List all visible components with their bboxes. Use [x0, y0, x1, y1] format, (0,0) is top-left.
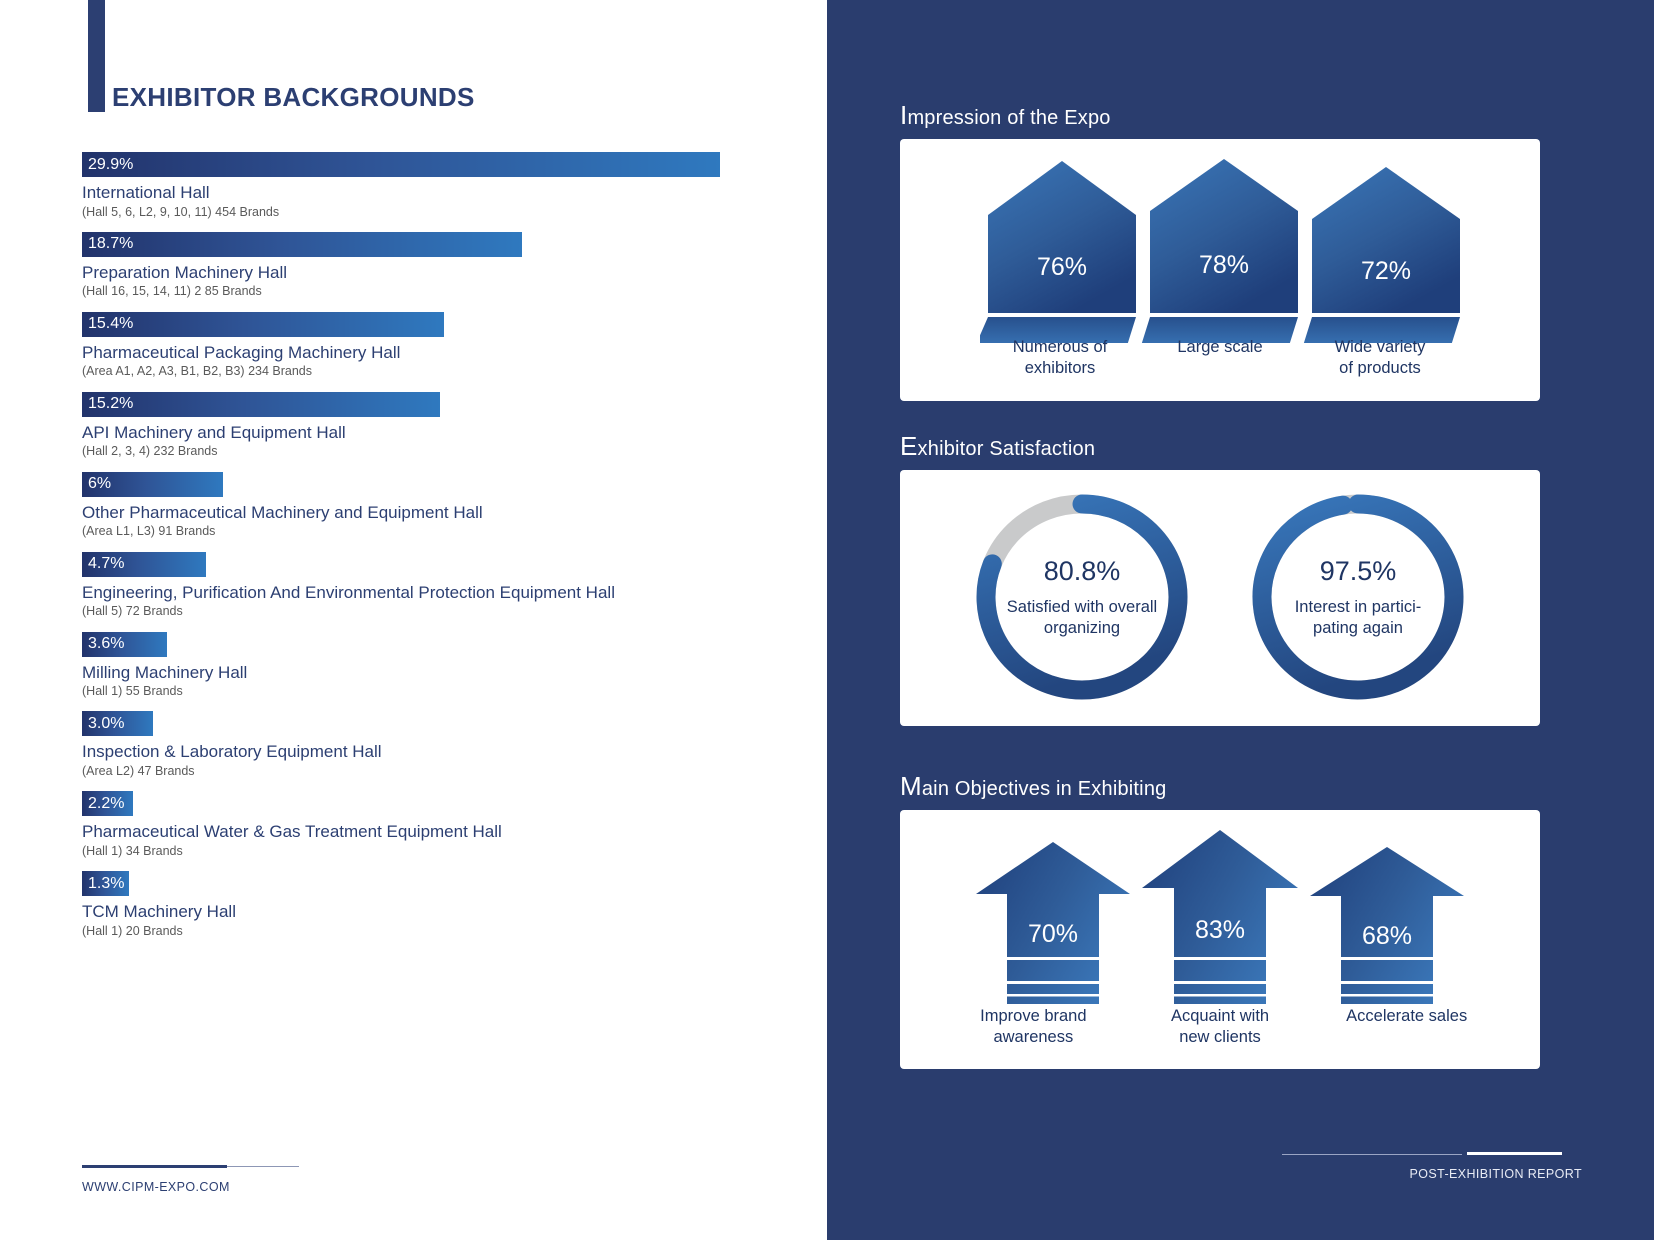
bar-fill: 18.7%: [82, 232, 522, 257]
left-panel: EXHIBITOR BACKGROUNDS 29.9%International…: [0, 0, 827, 1240]
bar-percent-label: 4.7%: [82, 556, 124, 572]
page-title: EXHIBITOR BACKGROUNDS: [112, 82, 475, 113]
bar-fill: 29.9%: [82, 152, 720, 177]
bar-category-name: Milling Machinery Hall: [82, 663, 782, 683]
bar-category-name: Other Pharmaceutical Machinery and Equip…: [82, 503, 782, 523]
bar-track: 1.3%: [82, 871, 782, 896]
bar-track: 15.2%: [82, 392, 782, 417]
bar-item: 18.7%Preparation Machinery Hall(Hall 16,…: [82, 232, 782, 299]
donut-chart-1-value: 97.5%: [1320, 556, 1397, 587]
bar-percent-label: 15.2%: [82, 396, 133, 412]
bar-percent-label: 2.2%: [82, 796, 124, 812]
donut-chart-0-value: 80.8%: [1044, 556, 1121, 587]
impression-value-0: 76%: [1037, 253, 1087, 281]
bar-detail-text: (Area L1, L3) 91 Brands: [82, 524, 782, 538]
card-objectives-body: 70% 83%: [900, 810, 1540, 1069]
bar-item: 29.9%International Hall(Hall 5, 6, L2, 9…: [82, 152, 782, 219]
donut-chart-1: 97.5% Interest in partici-pating again: [1243, 486, 1473, 708]
bar-fill: 15.2%: [82, 392, 440, 417]
bar-track: 2.2%: [82, 791, 782, 816]
bar-fill: 1.3%: [82, 871, 129, 896]
card-impression-of-the-expo: Impression of the Expo: [900, 100, 1540, 401]
bar-item: 6%Other Pharmaceutical Machinery and Equ…: [82, 472, 782, 539]
donut-chart-0-text: 80.8% Satisfied with overall organizing: [967, 486, 1197, 708]
bar-fill: 4.7%: [82, 552, 206, 577]
bar-track: 15.4%: [82, 312, 782, 337]
bar-track: 3.6%: [82, 632, 782, 657]
bar-category-name: API Machinery and Equipment Hall: [82, 423, 782, 443]
bar-track: 6%: [82, 472, 782, 497]
card-satisfaction-heading-capital: E: [900, 431, 918, 461]
bar-item: 15.2%API Machinery and Equipment Hall(Ha…: [82, 392, 782, 459]
bar-detail-text: (Area A1, A2, A3, B1, B2, B3) 234 Brands: [82, 364, 782, 378]
arrow-chart-svg: 70% 83%: [960, 826, 1480, 1016]
footer-right-rule-thin: [1282, 1154, 1462, 1155]
bar-detail-text: (Hall 5) 72 Brands: [82, 604, 782, 618]
card-main-objectives: Main Objectives in Exhibiting: [900, 771, 1540, 1069]
exhibitor-backgrounds-bar-chart: 29.9%International Hall(Hall 5, 6, L2, 9…: [82, 152, 782, 951]
bar-category-name: Engineering, Purification And Environmen…: [82, 583, 782, 603]
bar-item: 15.4%Pharmaceutical Packaging Machinery …: [82, 312, 782, 379]
card-impression-heading-rest: mpression of the Expo: [907, 107, 1110, 129]
bar-fill: 3.6%: [82, 632, 167, 657]
card-objectives-heading-capital: M: [900, 771, 922, 801]
objective-label-0: Improve brand awareness: [940, 1006, 1127, 1047]
bar-detail-text: (Hall 2, 3, 4) 232 Brands: [82, 444, 782, 458]
footer-website-url[interactable]: WWW.CIPM-EXPO.COM: [82, 1180, 412, 1194]
bar-track: 29.9%: [82, 152, 782, 177]
title-accent-bar: [88, 0, 105, 112]
bar-fill: 3.0%: [82, 711, 153, 736]
right-panel: Impression of the Expo: [827, 0, 1654, 1240]
objective-value-2: 68%: [1362, 922, 1412, 950]
bar-category-name: Pharmaceutical Packaging Machinery Hall: [82, 343, 782, 363]
card-satisfaction-heading: Exhibitor Satisfaction: [900, 431, 1540, 462]
pentagon-chart-svg: 76% 78% 72%: [980, 153, 1460, 343]
donut-chart-0-caption: Satisfied with overall organizing: [1002, 597, 1162, 638]
bar-track: 18.7%: [82, 232, 782, 257]
bar-item: 4.7%Engineering, Purification And Enviro…: [82, 552, 782, 619]
impression-labels: Numerous of exhibitors Large scale Wide …: [980, 337, 1460, 378]
objective-value-1: 83%: [1195, 916, 1245, 944]
arrow-1: 83%: [1142, 830, 1298, 1004]
impression-label-1: Large scale: [1140, 337, 1300, 378]
card-satisfaction-heading-rest: xhibitor Satisfaction: [918, 438, 1096, 460]
impression-label-2: Wide variety of products: [1300, 337, 1460, 378]
donut-chart-row: 80.8% Satisfied with overall organizing: [900, 486, 1540, 708]
donut-chart-0: 80.8% Satisfied with overall organizing: [967, 486, 1197, 708]
bar-percent-label: 18.7%: [82, 236, 133, 252]
impression-value-1: 78%: [1199, 251, 1249, 279]
objective-value-0: 70%: [1028, 920, 1078, 948]
bar-category-name: International Hall: [82, 183, 782, 203]
bar-fill: 2.2%: [82, 791, 133, 816]
bar-percent-label: 1.3%: [82, 876, 124, 892]
card-satisfaction-body: 80.8% Satisfied with overall organizing: [900, 470, 1540, 726]
bar-fill: 15.4%: [82, 312, 444, 337]
donut-chart-1-text: 97.5% Interest in partici-pating again: [1243, 486, 1473, 708]
bar-category-name: TCM Machinery Hall: [82, 902, 782, 922]
bar-percent-label: 3.0%: [82, 716, 124, 732]
bar-fill: 6%: [82, 472, 223, 497]
bar-item: 3.6%Milling Machinery Hall(Hall 1) 55 Br…: [82, 632, 782, 699]
impression-value-2: 72%: [1361, 257, 1411, 285]
bar-track: 3.0%: [82, 711, 782, 736]
arrow-0: 70%: [976, 842, 1130, 1004]
bar-detail-text: (Hall 1) 34 Brands: [82, 844, 782, 858]
objective-label-2: Accelerate sales: [1313, 1006, 1500, 1047]
footer-right-rule: [1282, 1152, 1582, 1158]
bar-item: 2.2%Pharmaceutical Water & Gas Treatment…: [82, 791, 782, 858]
impression-label-0: Numerous of exhibitors: [980, 337, 1140, 378]
bar-percent-label: 3.6%: [82, 636, 124, 652]
bar-percent-label: 6%: [82, 476, 111, 492]
bar-category-name: Pharmaceutical Water & Gas Treatment Equ…: [82, 822, 782, 842]
footer-left: WWW.CIPM-EXPO.COM: [82, 1165, 412, 1194]
bar-item: 1.3%TCM Machinery Hall(Hall 1) 20 Brands: [82, 871, 782, 938]
pentagon-chart: 76% 78% 72% Numerous of exhibitors Large…: [900, 139, 1540, 401]
card-objectives-heading-rest: ain Objectives in Exhibiting: [922, 778, 1167, 800]
objective-label-1: Acquaint with new clients: [1127, 1006, 1314, 1047]
card-impression-heading: Impression of the Expo: [900, 100, 1540, 131]
bar-category-name: Inspection & Laboratory Equipment Hall: [82, 742, 782, 762]
card-impression-body: 76% 78% 72% Numerous of exhibitors Large…: [900, 139, 1540, 401]
footer-report-label: POST-EXHIBITION REPORT: [1282, 1167, 1582, 1181]
bar-detail-text: (Hall 1) 55 Brands: [82, 684, 782, 698]
donut-chart-1-caption: Interest in partici-pating again: [1278, 597, 1438, 638]
footer-left-rule: [82, 1165, 412, 1171]
footer-left-rule-thin: [227, 1166, 299, 1167]
card-exhibitor-satisfaction: Exhibitor Satisfaction: [900, 431, 1540, 726]
arrow-chart: 70% 83%: [900, 810, 1540, 1069]
footer-right-rule-thick: [1467, 1152, 1562, 1155]
objectives-labels: Improve brand awareness Acquaint with ne…: [940, 1006, 1500, 1047]
bar-detail-text: (Hall 5, 6, L2, 9, 10, 11) 454 Brands: [82, 205, 782, 219]
arrow-2: 68%: [1310, 847, 1464, 1004]
bar-percent-label: 15.4%: [82, 316, 133, 332]
bar-item: 3.0%Inspection & Laboratory Equipment Ha…: [82, 711, 782, 778]
bar-category-name: Preparation Machinery Hall: [82, 263, 782, 283]
bar-percent-label: 29.9%: [82, 157, 133, 173]
card-objectives-heading: Main Objectives in Exhibiting: [900, 771, 1540, 802]
bar-detail-text: (Hall 16, 15, 14, 11) 2 85 Brands: [82, 284, 782, 298]
bar-detail-text: (Area L2) 47 Brands: [82, 764, 782, 778]
footer-right: POST-EXHIBITION REPORT: [1282, 1152, 1582, 1181]
footer-left-rule-thick: [82, 1165, 227, 1168]
bar-track: 4.7%: [82, 552, 782, 577]
bar-detail-text: (Hall 1) 20 Brands: [82, 924, 782, 938]
